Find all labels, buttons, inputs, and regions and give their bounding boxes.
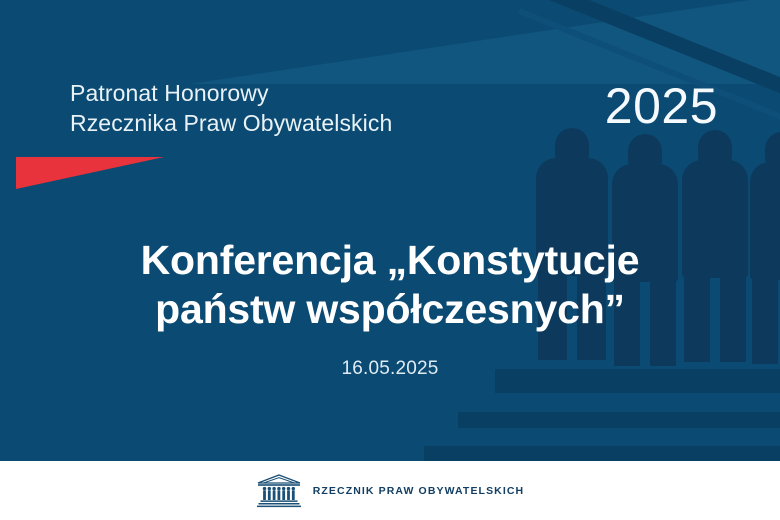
poster-stage: Patronat Honorowy Rzecznika Praw Obywate… [0,0,780,461]
patronage-text: Patronat Honorowy Rzecznika Praw Obywate… [70,78,392,138]
temple-step-2 [458,412,780,428]
year-label: 2025 [605,78,718,134]
temple-step-3 [424,446,780,461]
conference-title: Konferencja „Konstytucje państw współcze… [0,236,780,334]
conference-date: 16.05.2025 [0,358,780,380]
footer-bar: RZECZNIK PRAW OBYWATELSKICH [0,461,780,520]
conference-title-line-1: Konferencja „Konstytucje [141,237,640,283]
patronage-line-1: Patronat Honorowy [70,80,269,106]
conference-poster: Patronat Honorowy Rzecznika Praw Obywate… [0,0,780,520]
rpo-temple-logo-icon [256,474,302,508]
background-decoration [0,0,780,461]
patronage-line-2: Rzecznika Praw Obywatelskich [70,108,392,138]
footer-organization-label: RZECZNIK PRAW OBYWATELSKICH [313,485,525,497]
conference-title-line-2: państw współczesnych” [0,285,780,334]
